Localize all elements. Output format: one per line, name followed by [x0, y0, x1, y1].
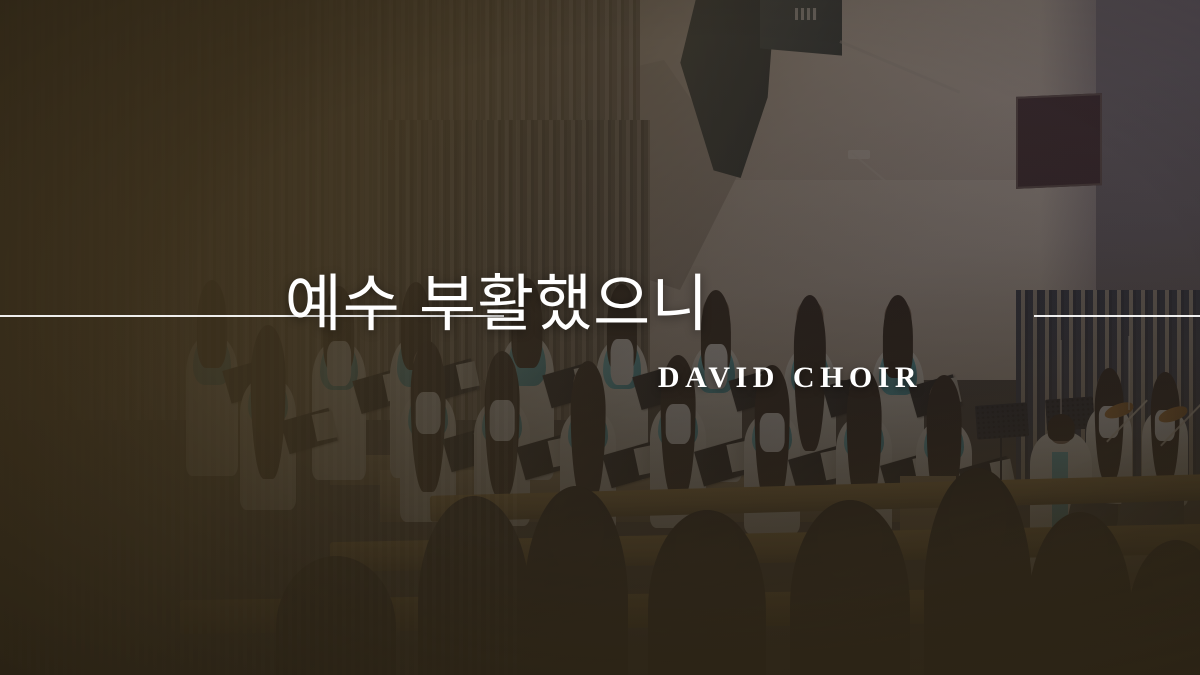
title-overlay: 예수 부활했으니 DAVID CHOIR — [0, 0, 1200, 675]
title-subtitle: DAVID CHOIR — [0, 362, 1200, 394]
page-title: 예수 부활했으니 — [0, 270, 1200, 340]
title-slide: 예수 부활했으니 DAVID CHOIR — [0, 0, 1200, 675]
